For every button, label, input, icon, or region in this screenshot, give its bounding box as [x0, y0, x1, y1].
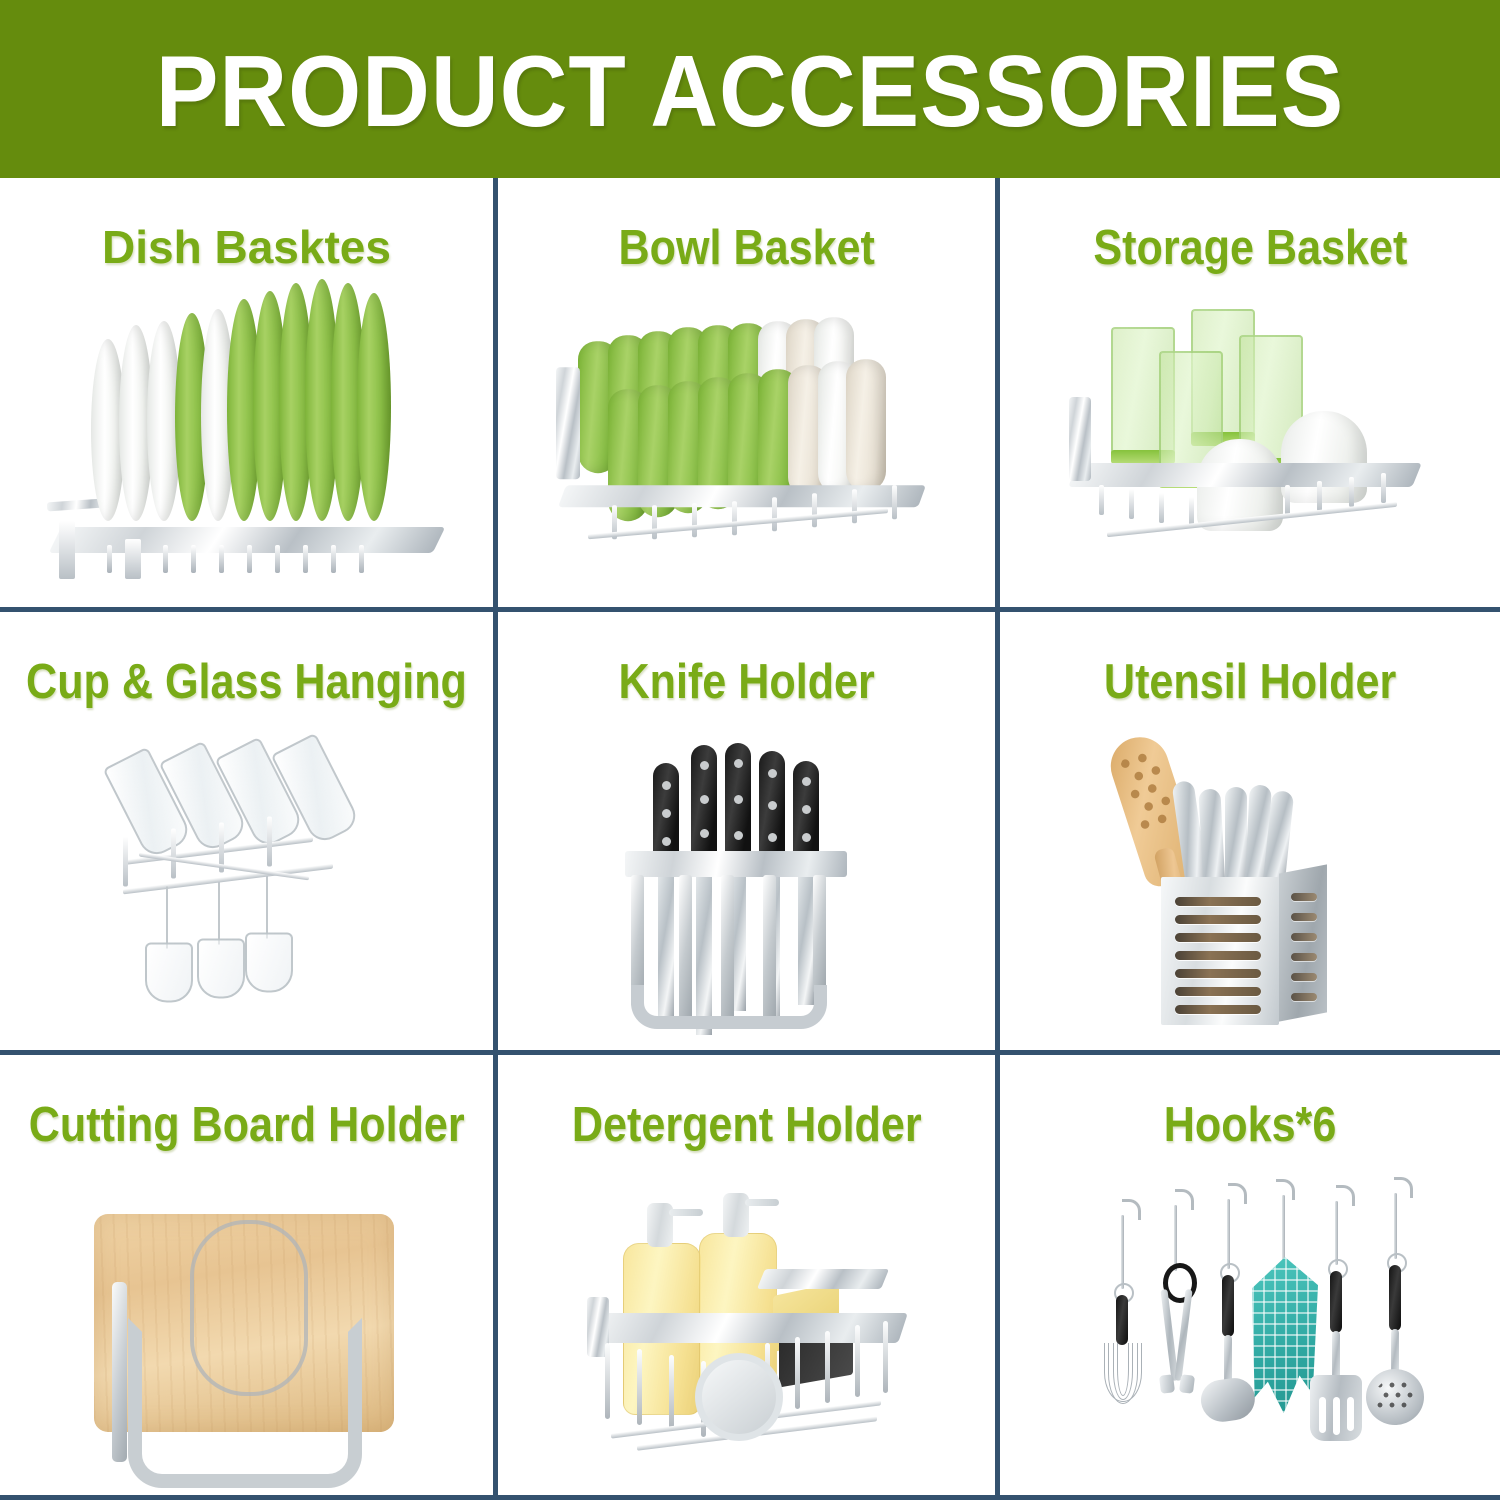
hook-tongs [1150, 1189, 1200, 1439]
cell-dish-baskets: Dish Basktes [0, 178, 498, 612]
cell-title-hooks: Hooks*6 [1164, 1101, 1337, 1150]
cell-detergent-holder: Detergent Holder [498, 1055, 1000, 1500]
product-image-cutting-board-holder [0, 1150, 493, 1500]
product-image-bowl-basket [498, 273, 995, 607]
cell-title-bowl-basket: Bowl Basket [618, 224, 874, 273]
accessories-grid: Dish Basktes [0, 178, 1500, 1500]
cell-title-utensil-holder: Utensil Holder [1104, 658, 1396, 707]
product-image-utensil-holder [1000, 707, 1500, 1050]
product-image-dish-baskets [0, 270, 493, 607]
product-image-storage-basket [1000, 273, 1500, 607]
cell-title-cutting-board-holder: Cutting Board Holder [29, 1101, 465, 1150]
cell-hooks: Hooks*6 [1000, 1055, 1500, 1500]
cell-utensil-holder: Utensil Holder [1000, 612, 1500, 1055]
hook-spatula [1306, 1185, 1366, 1447]
product-image-cup-glass-hanging [0, 707, 493, 1050]
product-accessories-infographic: PRODUCT ACCESSORIES Dish Basktes [0, 0, 1500, 1500]
hook-skimmer [1364, 1177, 1426, 1443]
cell-cutting-board-holder: Cutting Board Holder [0, 1055, 498, 1500]
header-banner: PRODUCT ACCESSORIES [0, 0, 1500, 178]
cell-storage-basket: Storage Basket [1000, 178, 1500, 612]
product-image-knife-holder [498, 707, 995, 1050]
cell-title-cup-glass-hanging: Cup & Glass Hanging [26, 658, 467, 707]
product-image-hooks [1000, 1150, 1500, 1500]
cell-title-storage-basket: Storage Basket [1093, 224, 1407, 273]
cell-title-detergent-holder: Detergent Holder [572, 1101, 922, 1150]
cell-bowl-basket: Bowl Basket [498, 178, 1000, 612]
cell-cup-glass-hanging: Cup & Glass Hanging [0, 612, 498, 1055]
page-title: PRODUCT ACCESSORIES [156, 42, 1344, 143]
bottom-divider [0, 1495, 1500, 1500]
product-image-detergent-holder [498, 1150, 995, 1500]
cell-title-knife-holder: Knife Holder [618, 658, 874, 707]
hook-whisk [1100, 1199, 1144, 1449]
cell-title-dish-baskets: Dish Basktes [102, 224, 391, 270]
cell-knife-holder: Knife Holder [498, 612, 1000, 1055]
